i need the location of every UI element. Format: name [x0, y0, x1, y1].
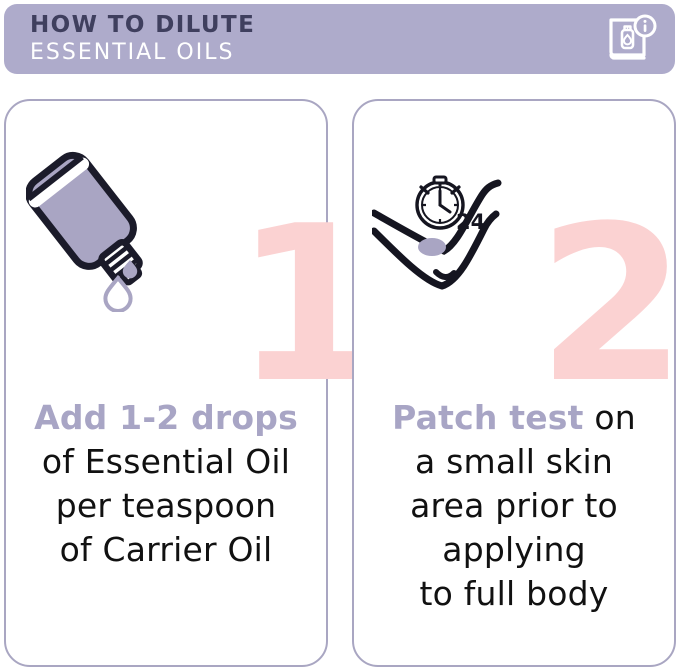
step-2-line-5: to full body: [360, 572, 668, 616]
arm-patch-test-timer-icon: 24: [372, 141, 562, 301]
step-2-accent: Patch test: [392, 398, 583, 437]
step-1-description: Add 1-2 drops of Essential Oil per teasp…: [6, 396, 326, 572]
page-subtitle: ESSENTIAL OILS: [30, 39, 255, 67]
step-card-1: 1 Add 1-2 drops of Essential Oil pe: [4, 99, 328, 667]
step-2-line-1-suffix: on: [584, 398, 636, 437]
step-1-line-4: of Carrier Oil: [12, 528, 320, 572]
step-2-line-4: applying: [360, 528, 668, 572]
step-1-line-1: Add 1-2 drops: [12, 396, 320, 440]
step-1-line-2: of Essential Oil: [12, 440, 320, 484]
step-1-line-3: per teaspoon: [12, 484, 320, 528]
step-2-line-2: a small skin: [360, 440, 668, 484]
step-2-line-3: area prior to: [360, 484, 668, 528]
header-titles: HOW TO DILUTE ESSENTIAL OILS: [30, 12, 255, 67]
dropper-bottle-icon: [26, 137, 166, 312]
step-2-description: Patch test on a small skin area prior to…: [354, 396, 674, 616]
step-2-line-1: Patch test on: [360, 396, 668, 440]
oil-bottle-info-icon: [603, 11, 659, 67]
page-title: HOW TO DILUTE: [30, 12, 255, 39]
header-band: HOW TO DILUTE ESSENTIAL OILS: [4, 4, 675, 74]
step-card-2: 2: [352, 99, 676, 667]
timer-label: 24: [456, 210, 485, 234]
